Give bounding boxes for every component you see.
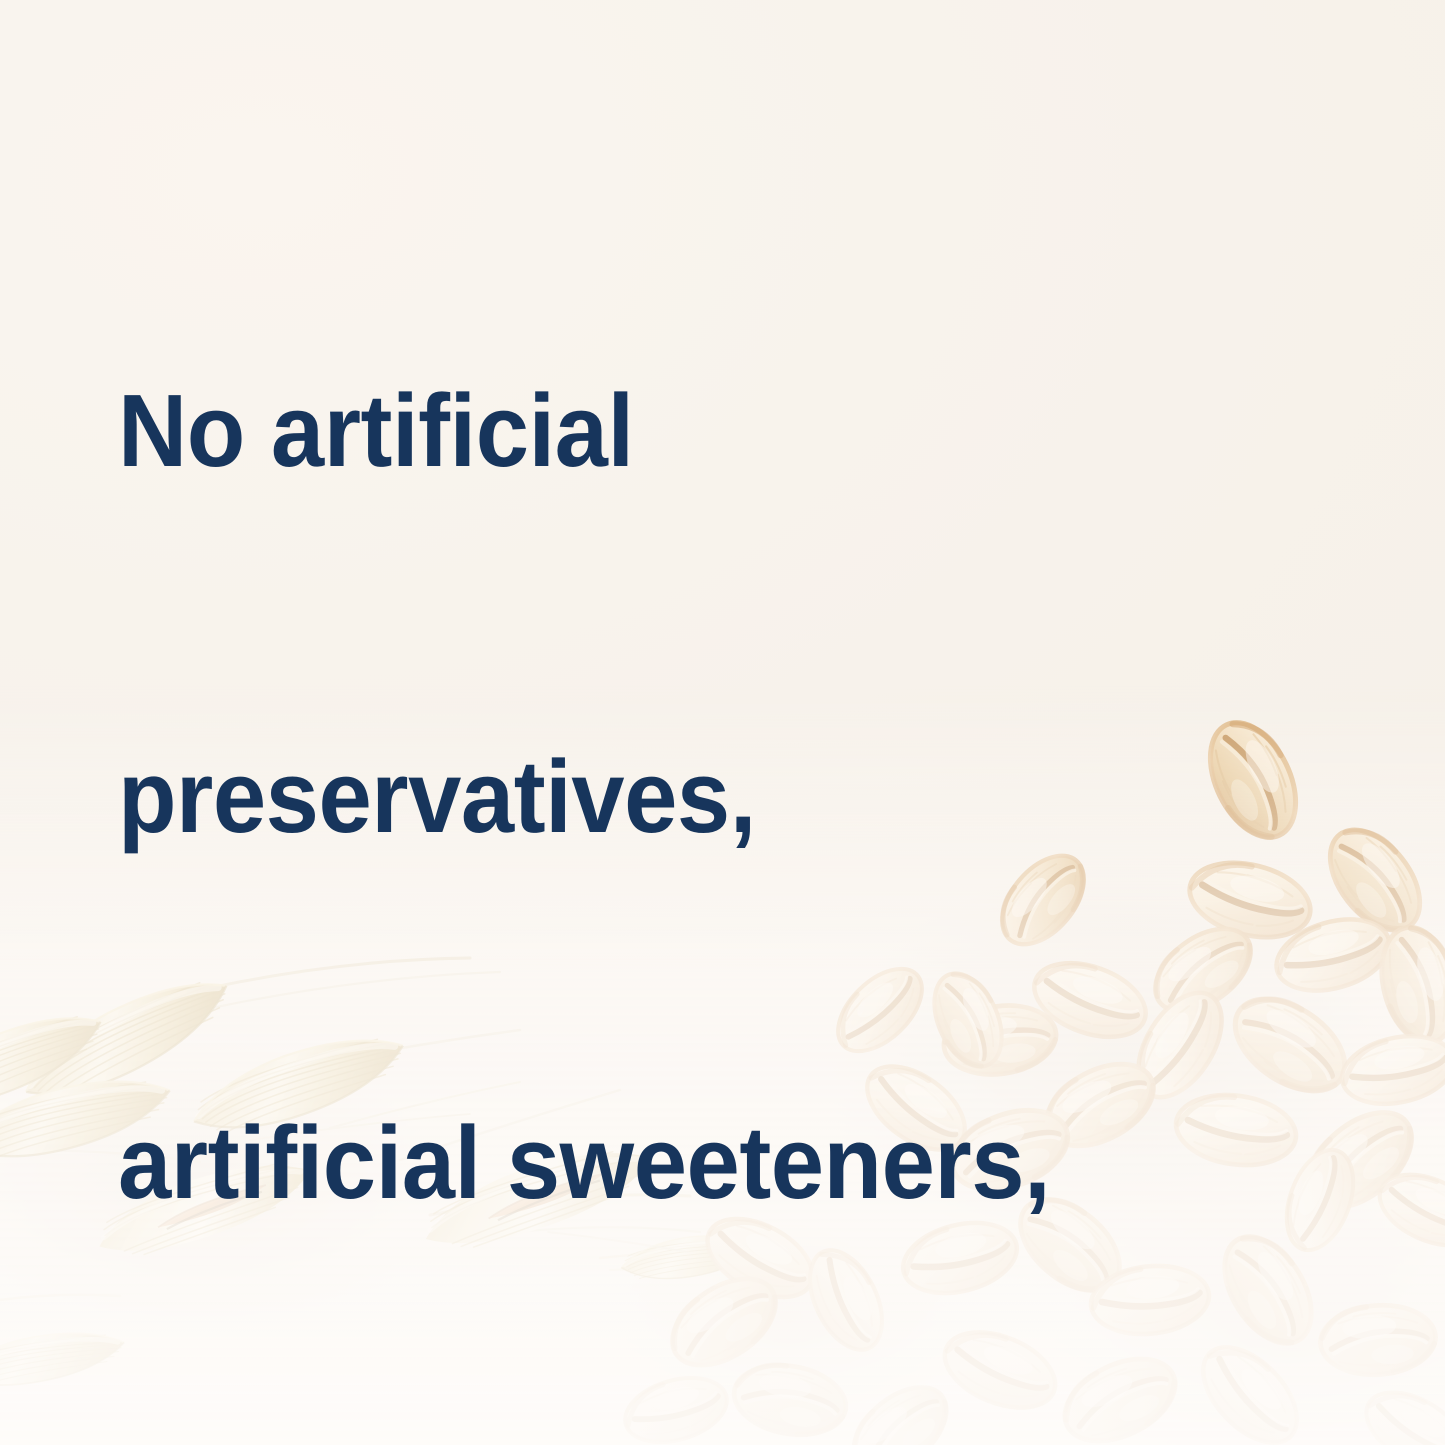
page-headline: No artificial preservatives, artificial …	[118, 126, 1243, 1445]
headline-line-2: preservatives,	[118, 736, 1243, 858]
headline-line-1: No artificial	[118, 370, 1243, 492]
headline-line-3: artificial sweeteners,	[118, 1102, 1243, 1224]
product-feature-image: No artificial preservatives, artificial …	[0, 0, 1445, 1445]
